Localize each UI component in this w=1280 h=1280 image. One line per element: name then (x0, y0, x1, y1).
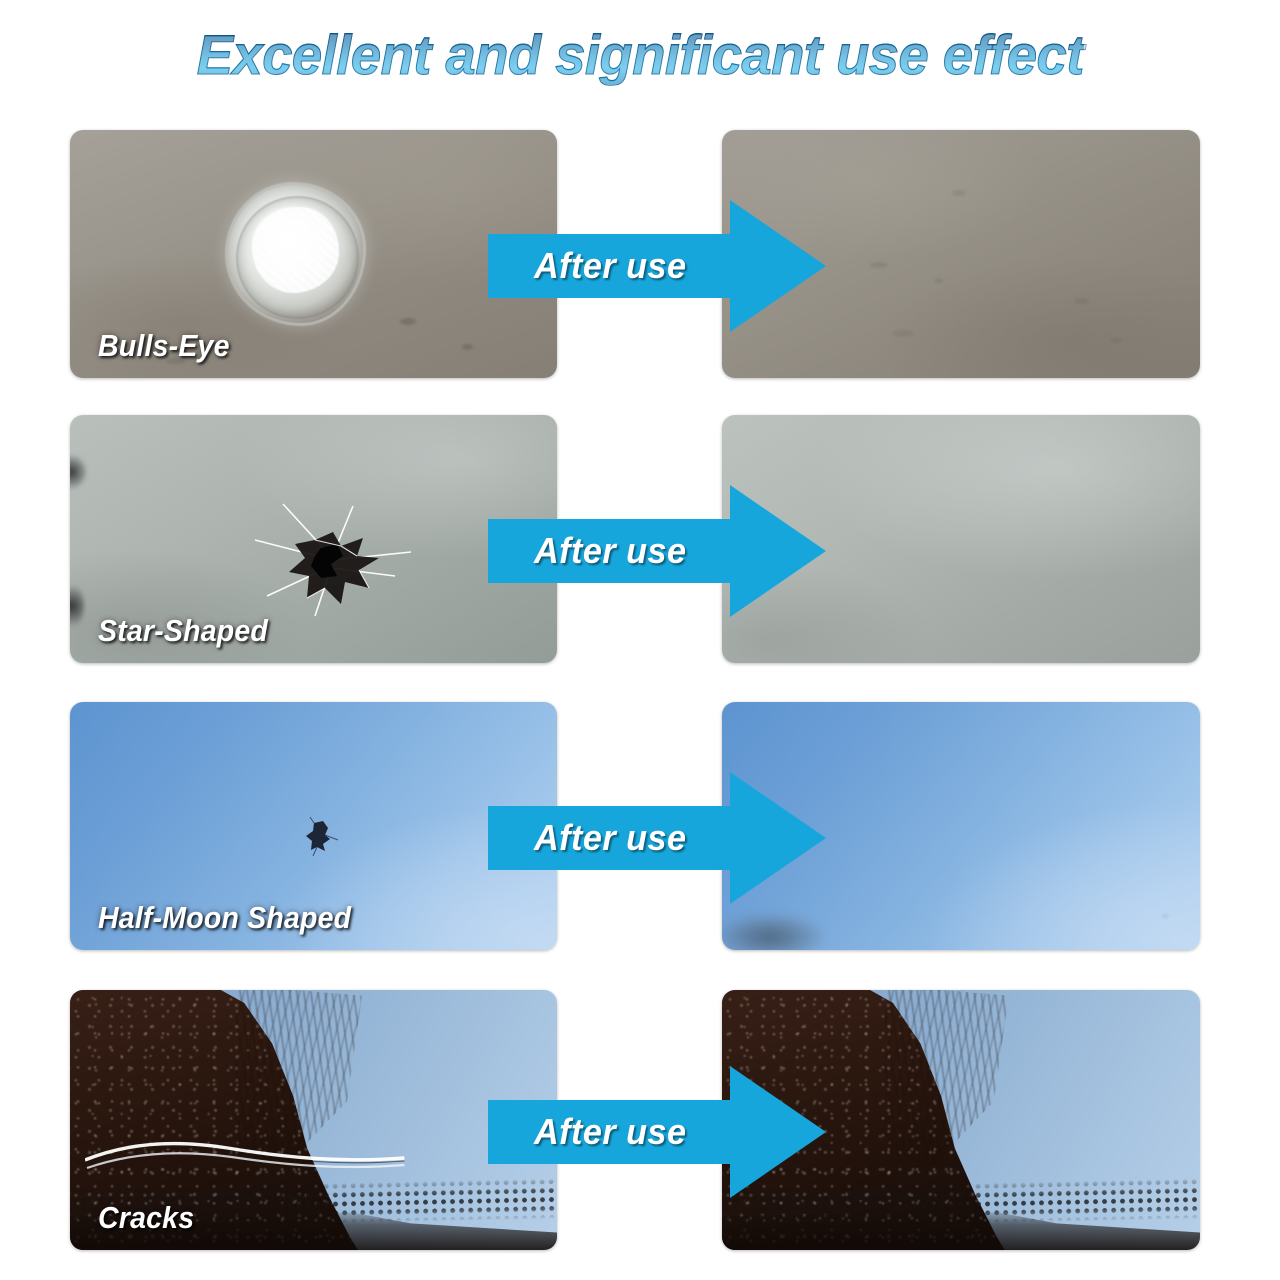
before-panel-bulls-eye: Bulls-Eye (70, 130, 557, 378)
damage-star-shaped-icon (245, 500, 415, 620)
comparison-row-half-moon: Half-Moon Shaped After use (0, 702, 1280, 950)
before-panel-star-shaped: Star-Shaped (70, 415, 557, 663)
comparison-row-bulls-eye: Bulls-Eye After use (0, 130, 1280, 378)
comparison-row-star-shaped: Star-Shaped After use (0, 415, 1280, 663)
damage-crack-icon (85, 1130, 406, 1176)
before-panel-cracks: Cracks (70, 990, 557, 1250)
after-use-arrow-cracks: After use (488, 1064, 828, 1200)
damage-bulls-eye-icon (228, 185, 363, 323)
damage-half-moon-icon (301, 817, 339, 857)
comparison-row-cracks: Cracks After use (0, 990, 1280, 1250)
caption-bulls-eye: Bulls-Eye (98, 328, 230, 364)
after-use-arrow-half-moon: After use (488, 770, 828, 906)
after-use-arrow-star-shaped: After use (488, 483, 828, 619)
after-use-label-star-shaped: After use (534, 530, 687, 572)
caption-half-moon: Half-Moon Shaped (98, 900, 351, 936)
before-panel-half-moon: Half-Moon Shaped (70, 702, 557, 950)
title-bar: Excellent and significant use effect (0, 26, 1280, 85)
caption-star-shaped: Star-Shaped (98, 613, 268, 649)
after-use-label-half-moon: After use (534, 817, 687, 859)
caption-cracks: Cracks (98, 1200, 194, 1236)
page-title: Excellent and significant use effect (196, 26, 1083, 85)
tree-branches (885, 990, 1009, 1167)
after-use-arrow-bulls-eye: After use (488, 198, 828, 334)
after-use-label-cracks: After use (534, 1111, 687, 1153)
after-use-label-bulls-eye: After use (534, 245, 687, 287)
